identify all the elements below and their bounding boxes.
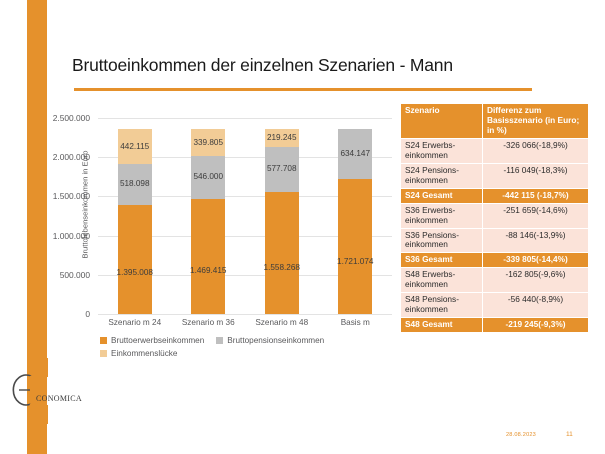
chart-legend: Bruttoerwerbseinkommen Bruttopensionsein… — [100, 336, 400, 362]
chart-y-axis-title: Bruttolebenseinkommen in Euro — [81, 125, 90, 285]
chart-bar-segment: 1.469.415 — [191, 199, 225, 314]
title-underline — [74, 88, 532, 91]
chart-y-tick-label: 2.500.000 — [28, 113, 90, 123]
chart-bar-segment: 442.115 — [118, 129, 152, 164]
table-cell-difference: -251 659(-14,6%) — [483, 203, 589, 228]
footer-page-number: 11 — [566, 431, 573, 438]
chart-data-label: 219.245 — [267, 133, 297, 142]
chart-data-label: 634.147 — [340, 149, 370, 158]
legend-swatch-einkommensluecke — [100, 350, 107, 357]
table-cell-scenario: S36 Pensions-​einkommen — [401, 228, 483, 253]
chart-x-tick-label: Basis m — [310, 318, 400, 327]
chart-bar-segment: 339.805 — [191, 129, 225, 156]
chart-plot-area: 2.500.0002.000.0001.500.0001.000.000500.… — [98, 118, 392, 314]
chart-data-label: 339.805 — [193, 138, 223, 147]
chart-bar-column: 339.805546.0001.469.415 — [191, 129, 225, 314]
table-cell-scenario: S24 Gesamt — [401, 188, 483, 203]
table-cell-scenario: S48 Gesamt — [401, 318, 483, 333]
chart-bar-segment: 577.708 — [265, 147, 299, 192]
table-row: S36 Erwerbs-​einkommen-251 659(-14,6%) — [401, 203, 589, 228]
table-cell-scenario: S48 Pensions-​einkommen — [401, 293, 483, 318]
footer-date: 28.08.2023 — [506, 432, 536, 438]
chart-bar-segment: 1.395.008 — [118, 205, 152, 314]
slide: Bruttoeinkommen der einzelnen Szenarien … — [0, 0, 605, 454]
table-header-szenario: Szenario — [401, 104, 483, 139]
table-cell-difference: -219 245(-9,3%) — [483, 318, 589, 333]
chart-data-label: 1.721.074 — [337, 257, 373, 266]
legend-item-2: Einkommenslücke — [100, 349, 177, 358]
page-title: Bruttoeinkommen der einzelnen Szenarien … — [72, 55, 542, 76]
chart-y-tick-label: 2.000.000 — [28, 152, 90, 162]
chart-bar-segment: 1.721.074 — [338, 179, 372, 314]
table-row: S48 Gesamt-219 245(-9,3%) — [401, 318, 589, 333]
table-cell-scenario: S24 Erwerbs-​einkommen — [401, 138, 483, 163]
table-row: S36 Gesamt-339 805(-14,4%) — [401, 253, 589, 268]
table-row: S24 Erwerbs-​einkommen-326 066(-18,9%) — [401, 138, 589, 163]
chart-bar-column: 442.115518.0981.395.008 — [118, 129, 152, 314]
chart-data-label: 546.000 — [193, 172, 223, 181]
legend-swatch-erwerbseinkommen — [100, 337, 107, 344]
difference-table: Szenario Differenz zum Basisszenario (in… — [400, 103, 589, 333]
chart-bar-segment: 1.558.268 — [265, 192, 299, 314]
logo-ex-mark — [3, 358, 89, 424]
table-header-differenz: Differenz zum Basisszenario (in Euro; in… — [483, 104, 589, 139]
table-row: S48 Erwerbs-​einkommen-162 805(-9,6%) — [401, 268, 589, 293]
table-row: S48 Pensions-​einkommen-56 440(-8,9%) — [401, 293, 589, 318]
chart-bar-segment: 219.245 — [265, 129, 299, 146]
table-cell-difference: -56 440(-8,9%) — [483, 293, 589, 318]
legend-item-1: Bruttopensionseinkommen — [216, 336, 324, 345]
legend-item-0: Bruttoerwerbseinkommen — [100, 336, 204, 345]
table-row: S24 Gesamt-442 115 (-18,7%) — [401, 188, 589, 203]
table-header-row: Szenario Differenz zum Basisszenario (in… — [401, 104, 589, 139]
table-row: S24 Pensions-​einkommen-116 049(-18,3%) — [401, 163, 589, 188]
table-cell-difference: -339 805(-14,4%) — [483, 253, 589, 268]
table-row: S36 Pensions-​einkommen-88 146(-13,9%) — [401, 228, 589, 253]
legend-label-2: Einkommenslücke — [111, 349, 177, 358]
table-cell-scenario: S24 Pensions-​einkommen — [401, 163, 483, 188]
chart-data-label: 577.708 — [267, 164, 297, 173]
chart-data-label: 1.469.415 — [190, 266, 226, 275]
chart: Bruttolebenseinkommen in Euro 2.500.0002… — [52, 112, 392, 370]
table-cell-difference: -326 066(-18,9%) — [483, 138, 589, 163]
chart-data-label: 442.115 — [120, 142, 149, 151]
chart-gridline — [98, 314, 392, 315]
chart-y-tick-label: 1.000.000 — [28, 231, 90, 241]
table-cell-scenario: S48 Erwerbs-​einkommen — [401, 268, 483, 293]
table-cell-scenario: S36 Erwerbs-​einkommen — [401, 203, 483, 228]
chart-bar-segment: 518.098 — [118, 164, 152, 205]
chart-y-tick-label: 0 — [28, 309, 90, 319]
legend-label-0: Bruttoerwerbseinkommen — [111, 336, 204, 345]
chart-data-label: 1.558.268 — [264, 263, 300, 272]
chart-bar-column: 634.1471.721.074 — [338, 129, 372, 314]
chart-data-label: 518.098 — [120, 179, 150, 188]
table-cell-difference: -88 146(-13,9%) — [483, 228, 589, 253]
chart-bar-segment: 546.000 — [191, 156, 225, 199]
logo: CONOMICA — [3, 358, 89, 424]
chart-data-label: 1.395.008 — [117, 268, 153, 277]
table-cell-scenario: S36 Gesamt — [401, 253, 483, 268]
chart-y-tick-label: 1.500.000 — [28, 191, 90, 201]
chart-bar-segment: 634.147 — [338, 129, 372, 179]
logo-text: CONOMICA — [36, 394, 82, 403]
chart-gridline — [98, 118, 392, 119]
table-cell-difference: -116 049(-18,3%) — [483, 163, 589, 188]
legend-swatch-pensionseinkommen — [216, 337, 223, 344]
chart-bar-column: 219.245577.7081.558.268 — [265, 129, 299, 314]
legend-label-1: Bruttopensionseinkommen — [227, 336, 324, 345]
table-cell-difference: -442 115 (-18,7%) — [483, 188, 589, 203]
table-cell-difference: -162 805(-9,6%) — [483, 268, 589, 293]
chart-y-tick-label: 500.000 — [28, 270, 90, 280]
